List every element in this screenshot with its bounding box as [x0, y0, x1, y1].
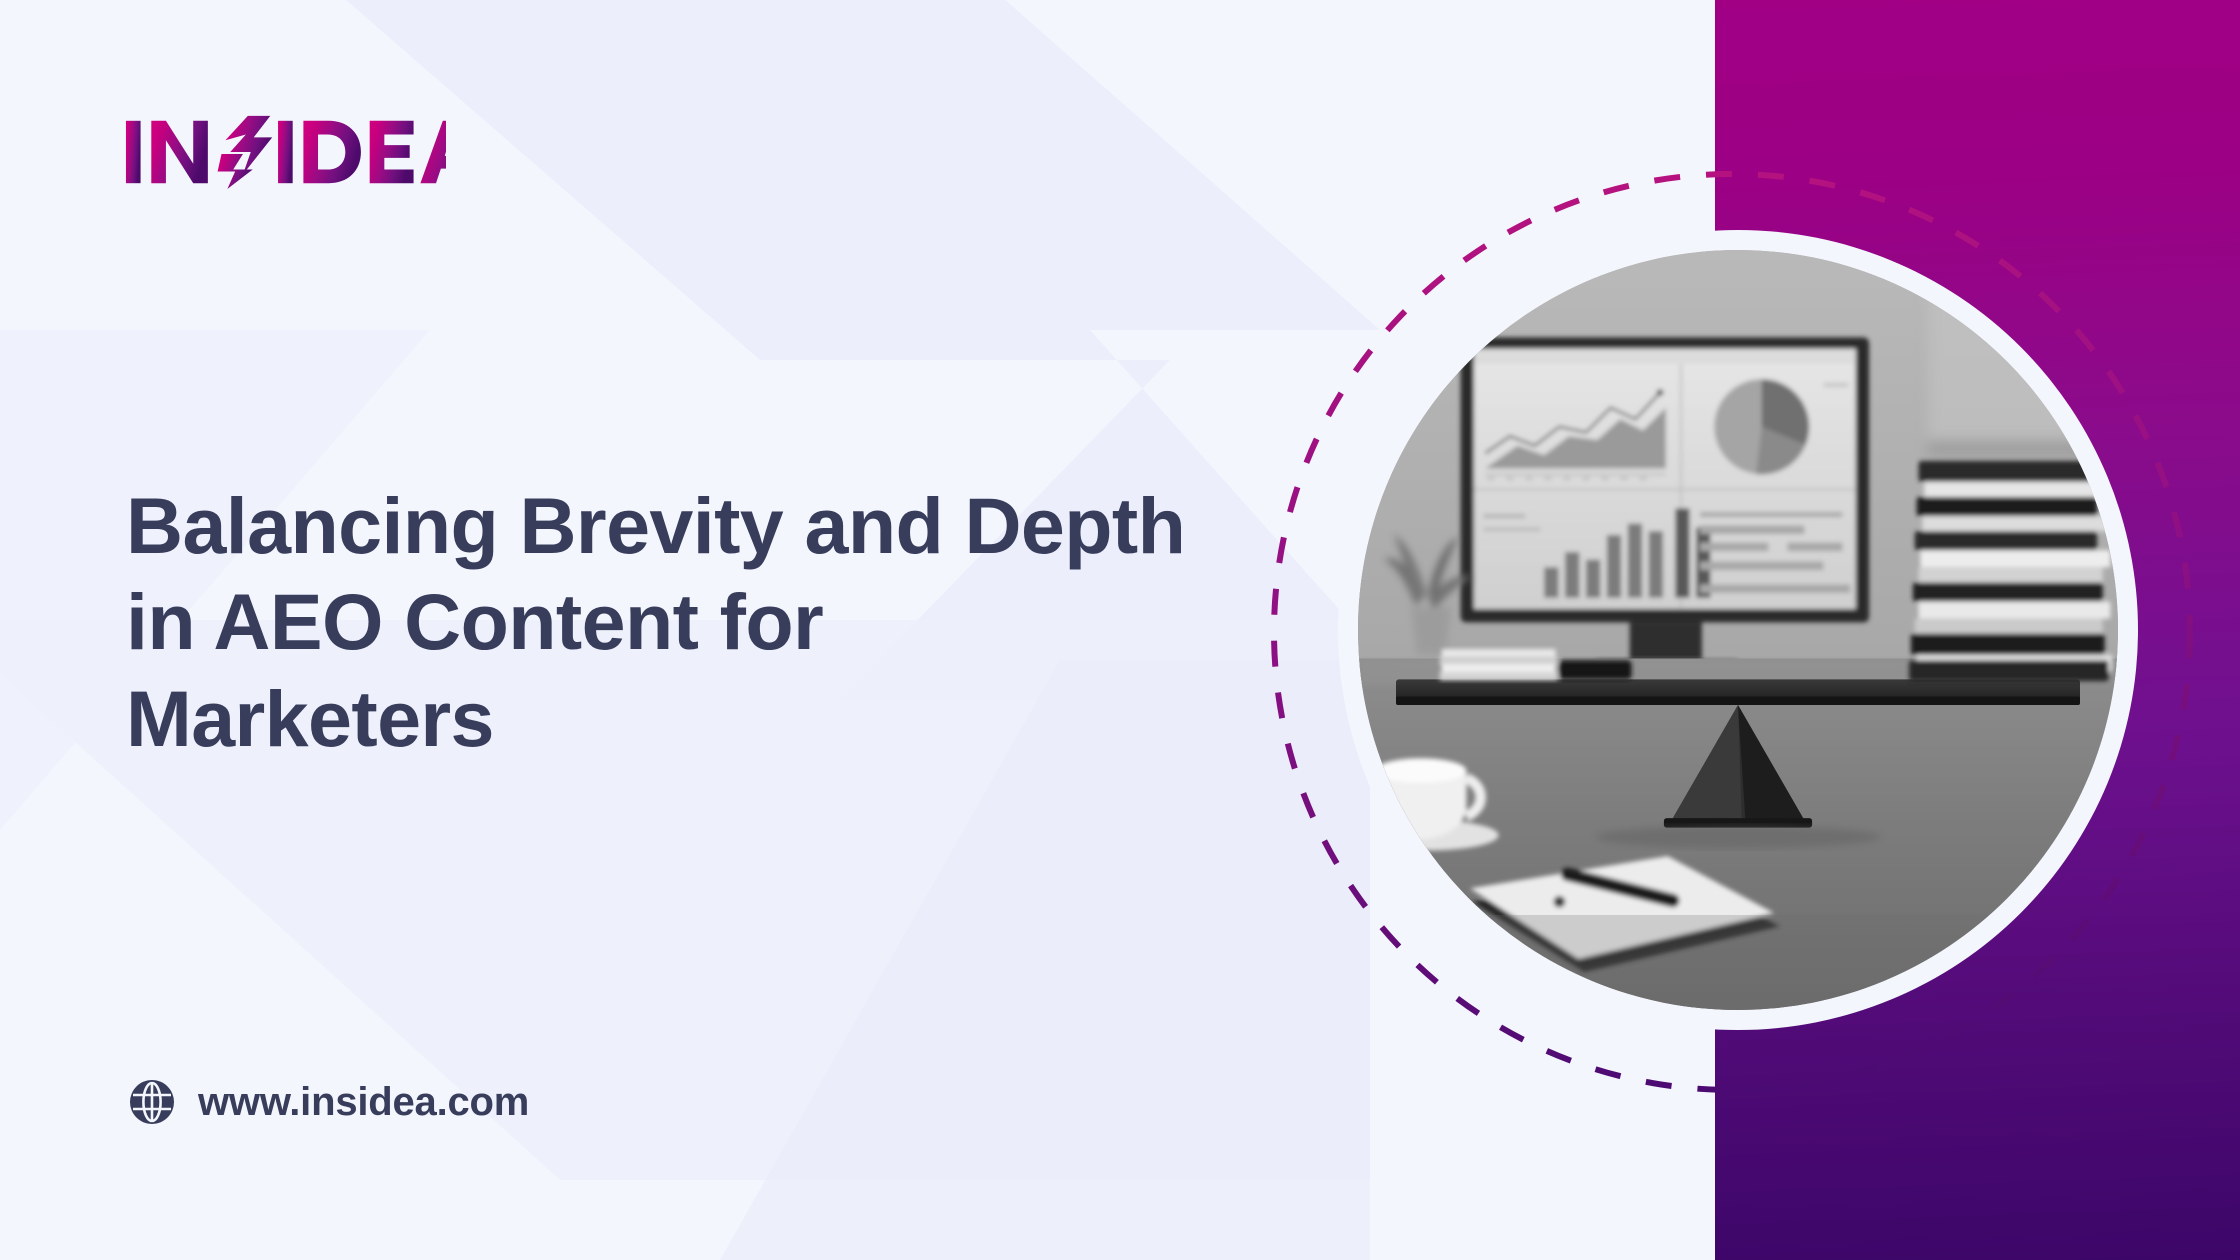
- hero-photo-circle: [1338, 230, 2138, 1030]
- hero-photo: [1358, 250, 2118, 1010]
- website-url-text: www.insidea.com: [198, 1080, 529, 1125]
- banner-canvas: Balancing Brevity and Depth in AEO Conte…: [0, 0, 2240, 1260]
- globe-icon: [128, 1078, 176, 1126]
- page-title: Balancing Brevity and Depth in AEO Conte…: [126, 478, 1186, 767]
- insidea-logo-icon: [124, 113, 446, 191]
- website-url-row[interactable]: www.insidea.com: [128, 1078, 529, 1126]
- brand-logo[interactable]: [124, 112, 446, 192]
